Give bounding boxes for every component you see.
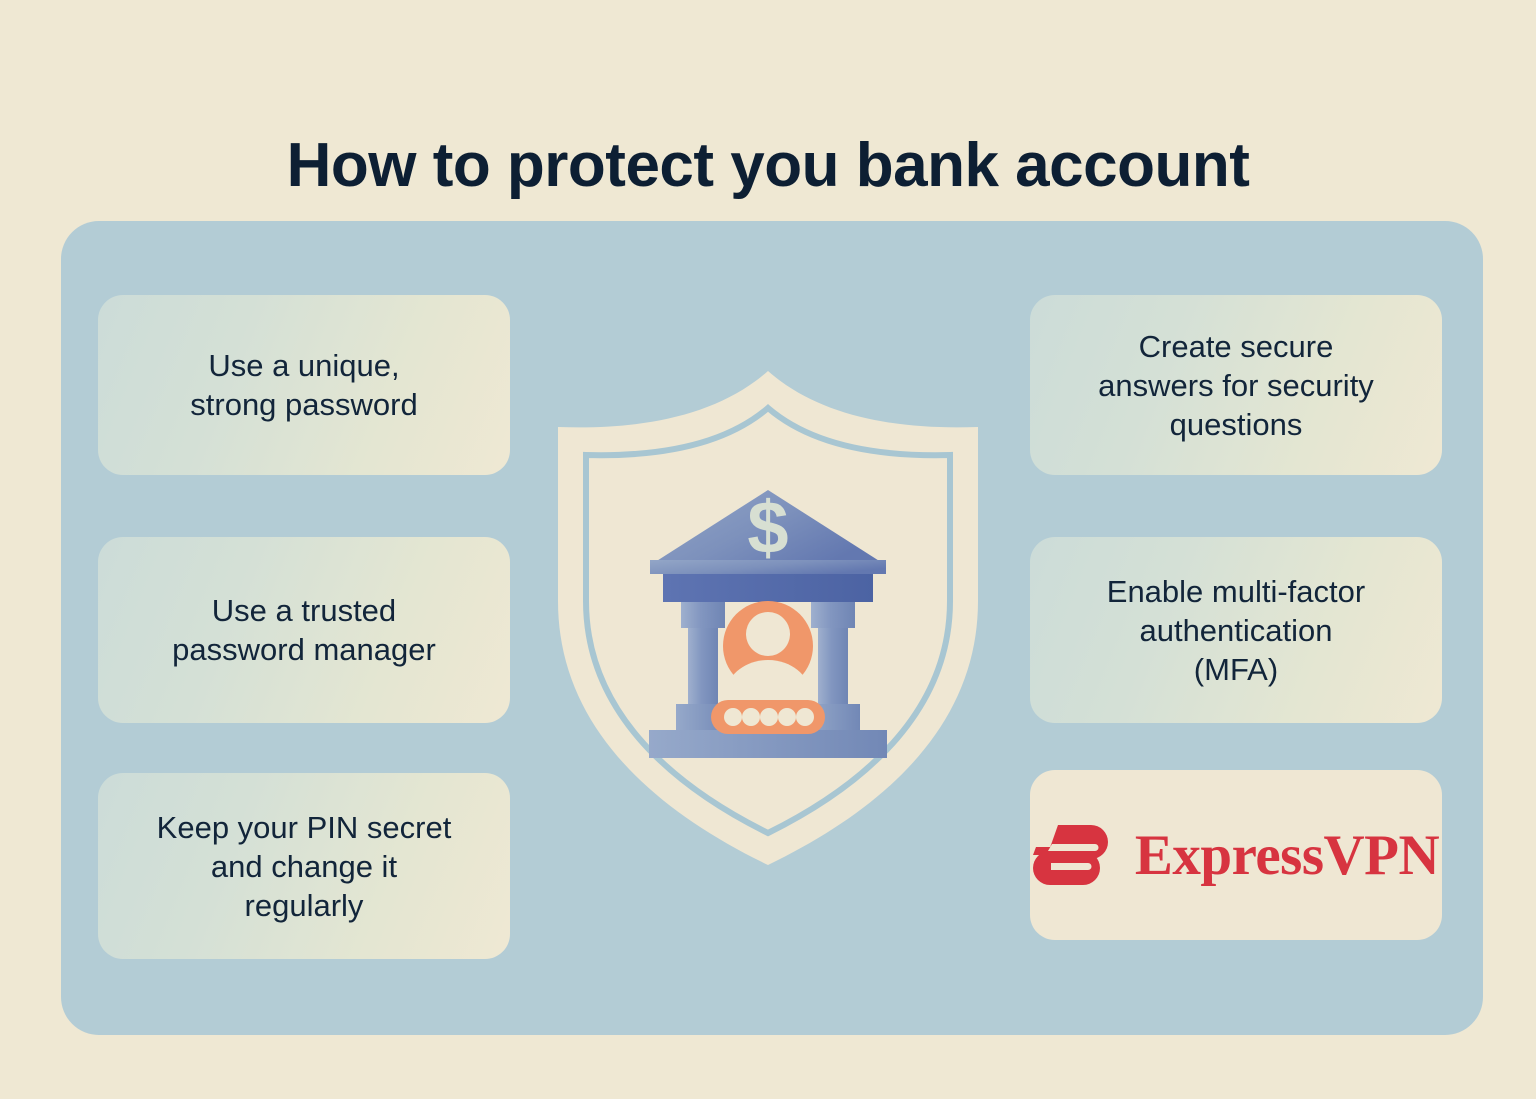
infographic-canvas: How to protect you bank account Use a un…: [0, 0, 1536, 1099]
tip-card-label: Keep your PIN secret and change it regul…: [157, 808, 452, 925]
bank-shield-illustration: $: [545, 368, 991, 868]
tip-card-secure-security-answers[interactable]: Create secure answers for security quest…: [1030, 295, 1442, 475]
tip-card-label: Enable multi-factor authentication (MFA): [1107, 572, 1365, 689]
dollar-sign-icon: $: [747, 486, 788, 569]
tip-card-unique-strong-password[interactable]: Use a unique, strong password: [98, 295, 510, 475]
expressvpn-e-mark-icon: [1033, 824, 1109, 886]
expressvpn-wordmark: ExpressVPN: [1135, 827, 1439, 884]
shield-icon: $: [545, 368, 991, 868]
expressvpn-logo: ExpressVPN: [1033, 824, 1439, 886]
tip-card-keep-pin-secret[interactable]: Keep your PIN secret and change it regul…: [98, 773, 510, 959]
svg-text:$: $: [747, 486, 788, 569]
page-title: How to protect you bank account: [0, 130, 1536, 202]
tip-card-label: Use a unique, strong password: [190, 346, 417, 424]
brand-logo-card[interactable]: ExpressVPN: [1030, 770, 1442, 940]
tip-card-label: Use a trusted password manager: [172, 591, 436, 669]
tip-card-enable-mfa[interactable]: Enable multi-factor authentication (MFA): [1030, 537, 1442, 723]
tip-card-trusted-password-manager[interactable]: Use a trusted password manager: [98, 537, 510, 723]
password-dots-icon: [711, 700, 825, 734]
tip-card-label: Create secure answers for security quest…: [1098, 327, 1374, 444]
